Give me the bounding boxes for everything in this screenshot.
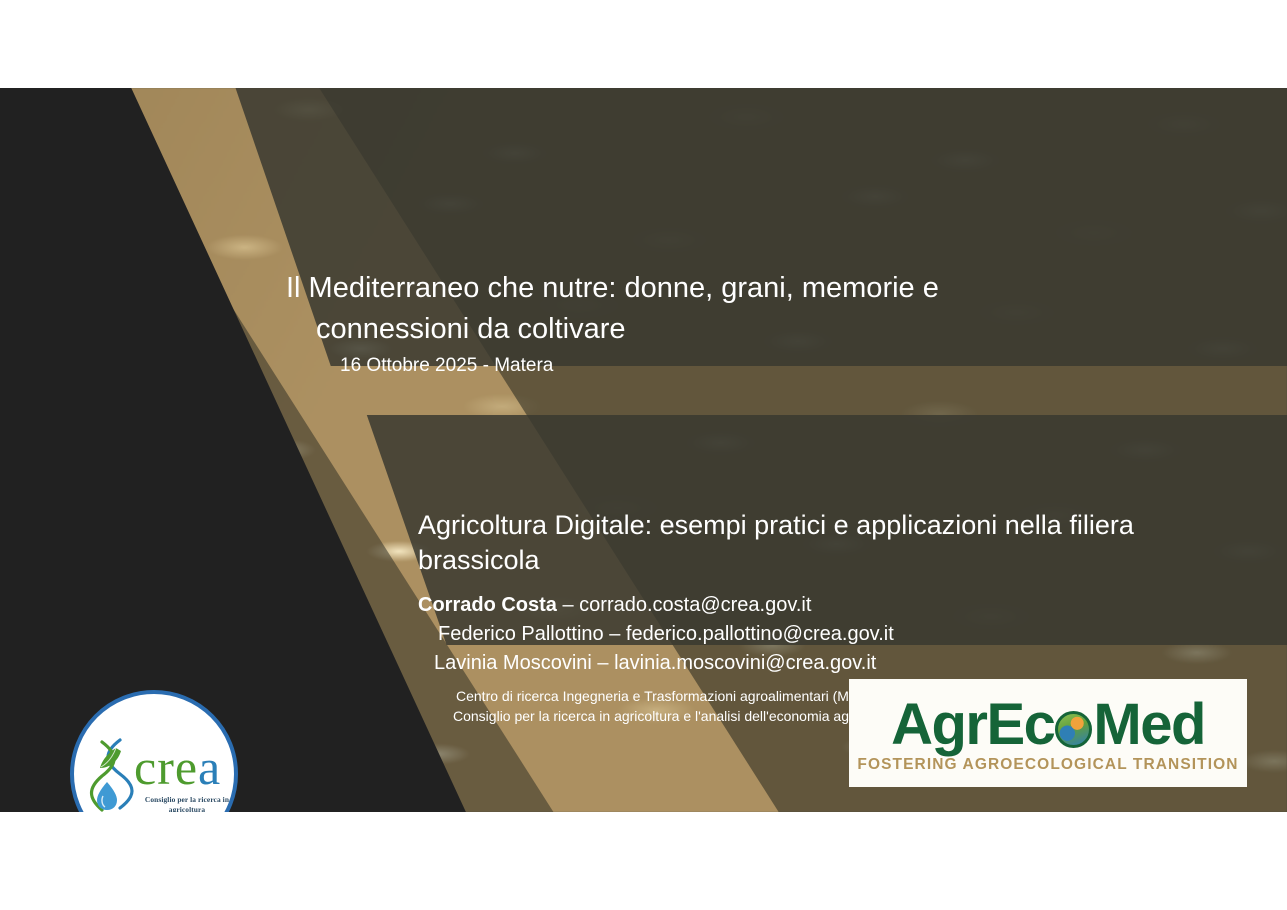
- event-title-line-1: Il Mediterraneo che nutre: donne, grani,…: [286, 272, 939, 304]
- author-name: Corrado Costa: [418, 594, 557, 616]
- agrecomed-wordmark: AgrEc Med: [891, 696, 1205, 754]
- crea-tagline-line-1: Consiglio per la ricerca in agricoltura: [135, 795, 238, 812]
- slide-page: Il Mediterraneo che nutre: donne, grani,…: [0, 0, 1287, 910]
- author-email[interactable]: corrado.costa@crea.gov.it: [579, 594, 811, 616]
- globe-icon: [1055, 711, 1092, 748]
- agrecomed-wordmark-part-2: Med: [1093, 696, 1205, 754]
- crea-dna-wheat-drop-icon: [86, 736, 138, 812]
- author-name: Federico Pallottino: [438, 623, 604, 645]
- author-email[interactable]: federico.pallottino@crea.gov.it: [626, 623, 894, 645]
- agrecomed-logo: AgrEc Med FOSTERING AGROECOLOGICAL TRANS…: [849, 679, 1247, 787]
- crea-tagline: Consiglio per la ricerca in agricoltura …: [135, 795, 238, 812]
- author-row: Federico Pallottino – federico.pallottin…: [418, 620, 1218, 649]
- crea-wordmark-blue: a: [198, 739, 221, 795]
- author-row: Corrado Costa – corrado.costa@crea.gov.i…: [418, 591, 1218, 620]
- author-name: Lavinia Moscovini: [434, 652, 592, 674]
- crea-wordmark-green: cre: [134, 739, 198, 795]
- author-row: Lavinia Moscovini – lavinia.moscovini@cr…: [418, 649, 1218, 678]
- author-separator: –: [592, 652, 614, 674]
- event-title-line-2: connessioni da coltivare: [286, 309, 1046, 350]
- event-title: Il Mediterraneo che nutre: donne, grani,…: [286, 268, 1046, 350]
- crea-wordmark: crea: [134, 742, 221, 792]
- title-slide: Il Mediterraneo che nutre: donne, grani,…: [0, 88, 1287, 812]
- talk-title: Agricoltura Digitale: esempi pratici e a…: [418, 508, 1208, 578]
- talk-title-line-1: Agricoltura Digitale: esempi pratici e a…: [418, 510, 1062, 540]
- author-email[interactable]: lavinia.moscovini@crea.gov.it: [614, 652, 876, 674]
- agrecomed-wordmark-part-1: AgrEc: [891, 696, 1054, 754]
- author-separator: –: [557, 594, 579, 616]
- agrecomed-tagline: FOSTERING AGROECOLOGICAL TRANSITION: [857, 756, 1238, 774]
- event-date-location: 16 Ottobre 2025 - Matera: [340, 355, 553, 377]
- author-separator: –: [604, 623, 626, 645]
- author-list: Corrado Costa – corrado.costa@crea.gov.i…: [418, 591, 1218, 678]
